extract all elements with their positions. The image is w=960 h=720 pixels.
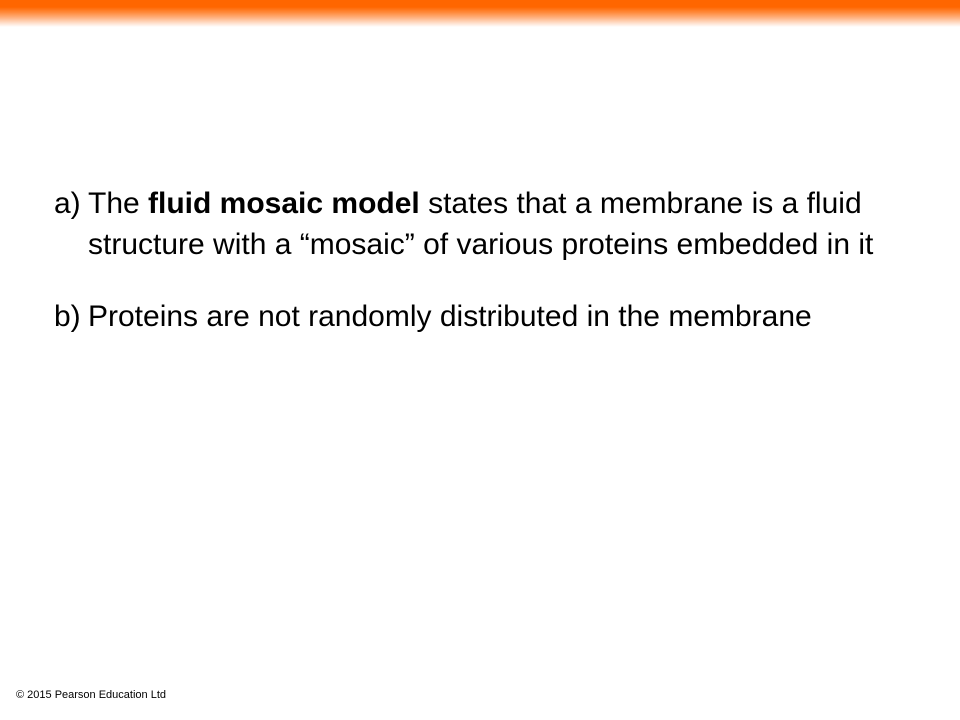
slide-body: a) The fluid mosaic model states that a … — [54, 183, 914, 337]
orange-band-solid — [0, 0, 960, 7]
text-run-bold: fluid mosaic model — [148, 187, 420, 220]
text-run-plain: The — [88, 187, 148, 220]
list-item: a) The fluid mosaic model states that a … — [54, 183, 914, 265]
list-item: b) Proteins are not randomly distributed… — [54, 296, 914, 337]
list-marker-b: b) — [54, 296, 88, 337]
list-item-text-a: The fluid mosaic model states that a mem… — [88, 183, 914, 265]
slide-canvas: a) The fluid mosaic model states that a … — [0, 0, 960, 720]
orange-gradient-band — [0, 0, 960, 27]
copyright-notice: © 2015 Pearson Education Ltd — [16, 688, 166, 702]
orange-band-fade — [0, 7, 960, 27]
list-marker-a: a) — [54, 183, 88, 224]
list-item-text-b: Proteins are not randomly distributed in… — [88, 296, 914, 337]
